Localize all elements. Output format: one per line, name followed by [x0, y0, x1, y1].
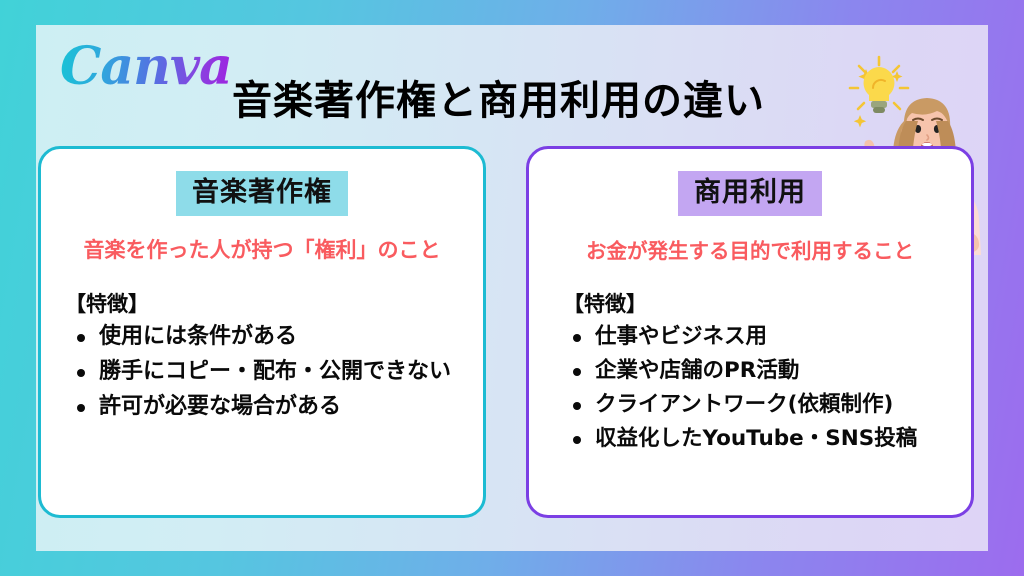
- list-item: 企業や店舗のPR活動: [595, 354, 971, 388]
- list-item: 収益化したYouTube・SNS投稿: [595, 422, 971, 456]
- card-heading-wrap-right: 商用利用: [529, 171, 971, 216]
- feature-label-right: 【特徴】: [563, 288, 971, 318]
- slide-inner-panel: Canva 音楽著作権と商用利用の違い: [36, 25, 988, 551]
- card-music-copyright: 音楽著作権 音楽を作った人が持つ「権利」のこと 【特徴】 使用には条件がある 勝…: [38, 146, 486, 518]
- list-item: クライアントワーク(依頼制作): [595, 388, 971, 422]
- comparison-cards: 音楽著作権 音楽を作った人が持つ「権利」のこと 【特徴】 使用には条件がある 勝…: [36, 25, 988, 551]
- card-subtitle-commercial-use: お金が発生する目的で利用すること: [529, 234, 971, 264]
- list-item: 許可が必要な場合がある: [99, 390, 483, 425]
- feature-label-left: 【特徴】: [65, 288, 483, 318]
- card-heading-commercial-use: 商用利用: [678, 171, 822, 216]
- card-heading-wrap-left: 音楽著作権: [41, 171, 483, 216]
- list-item: 仕事やビジネス用: [595, 320, 971, 354]
- card-subtitle-music-copyright: 音楽を作った人が持つ「権利」のこと: [41, 234, 483, 264]
- slide-canvas: Canva 音楽著作権と商用利用の違い: [0, 0, 1024, 576]
- card-commercial-use: 商用利用 お金が発生する目的で利用すること 【特徴】 仕事やビジネス用 企業や店…: [526, 146, 974, 518]
- bullet-list-music-copyright: 使用には条件がある 勝手にコピー・配布・公開できない 許可が必要な場合がある: [41, 320, 483, 424]
- card-heading-music-copyright: 音楽著作権: [176, 171, 348, 216]
- list-item: 勝手にコピー・配布・公開できない: [99, 355, 483, 390]
- bullet-list-commercial-use: 仕事やビジネス用 企業や店舗のPR活動 クライアントワーク(依頼制作) 収益化し…: [529, 320, 971, 456]
- list-item: 使用には条件がある: [99, 320, 483, 355]
